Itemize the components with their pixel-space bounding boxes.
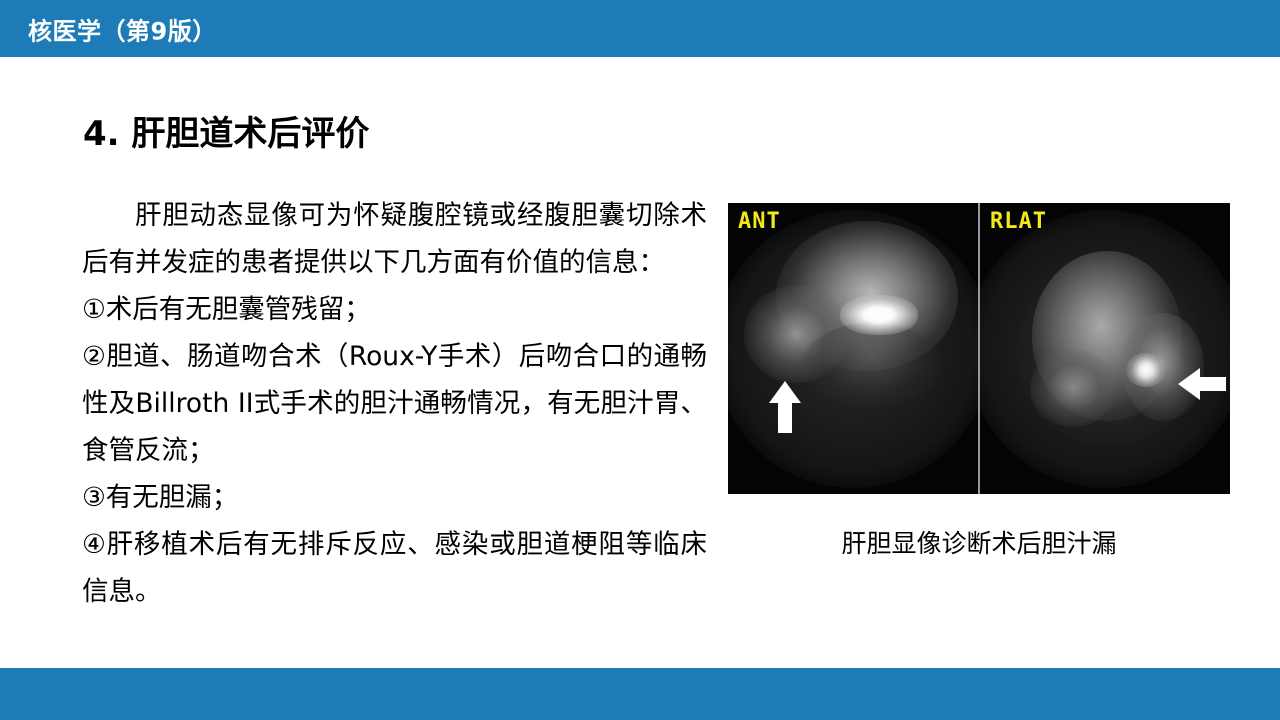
scan-label-right-lateral: RLAT: [990, 211, 1047, 233]
detector-field: [980, 210, 1230, 488]
paragraph-item-4: ④肝移植术后有无排斥反应、感染或胆道梗阻等临床信息。: [82, 521, 707, 615]
scan-panel-right-lateral: RLAT: [980, 203, 1230, 494]
top-banner: 核医学（第9版）: [0, 0, 1280, 57]
figure-caption: 肝胆显像诊断术后胆汁漏: [728, 524, 1230, 560]
scan-image-pair: ANT RLAT: [728, 203, 1230, 494]
detector-field: [728, 210, 978, 488]
scintigraphy-figure: ANT RLAT 肝胆显像诊断术后胆汁漏: [728, 203, 1230, 560]
paragraph-item-1: ①术后有无胆囊管残留；: [82, 286, 707, 333]
paragraph-item-2: ②胆道、肠道吻合术（Roux-Y手术）后吻合口的通畅性及Billroth II式…: [82, 333, 707, 474]
bottom-banner: [0, 668, 1280, 720]
body-text-column: 肝胆动态显像可为怀疑腹腔镜或经腹胆囊切除术后有并发症的患者提供以下几方面有价值的…: [82, 192, 707, 615]
scan-panel-anterior: ANT: [728, 203, 978, 494]
paragraph-intro: 肝胆动态显像可为怀疑腹腔镜或经腹胆囊切除术后有并发症的患者提供以下几方面有价值的…: [82, 192, 707, 286]
scan-label-anterior: ANT: [738, 211, 781, 233]
book-title: 核医学（第9版）: [28, 11, 217, 46]
paragraph-item-3: ③有无胆漏；: [82, 474, 707, 521]
page-title: 4. 肝胆道术后评价: [83, 106, 369, 155]
